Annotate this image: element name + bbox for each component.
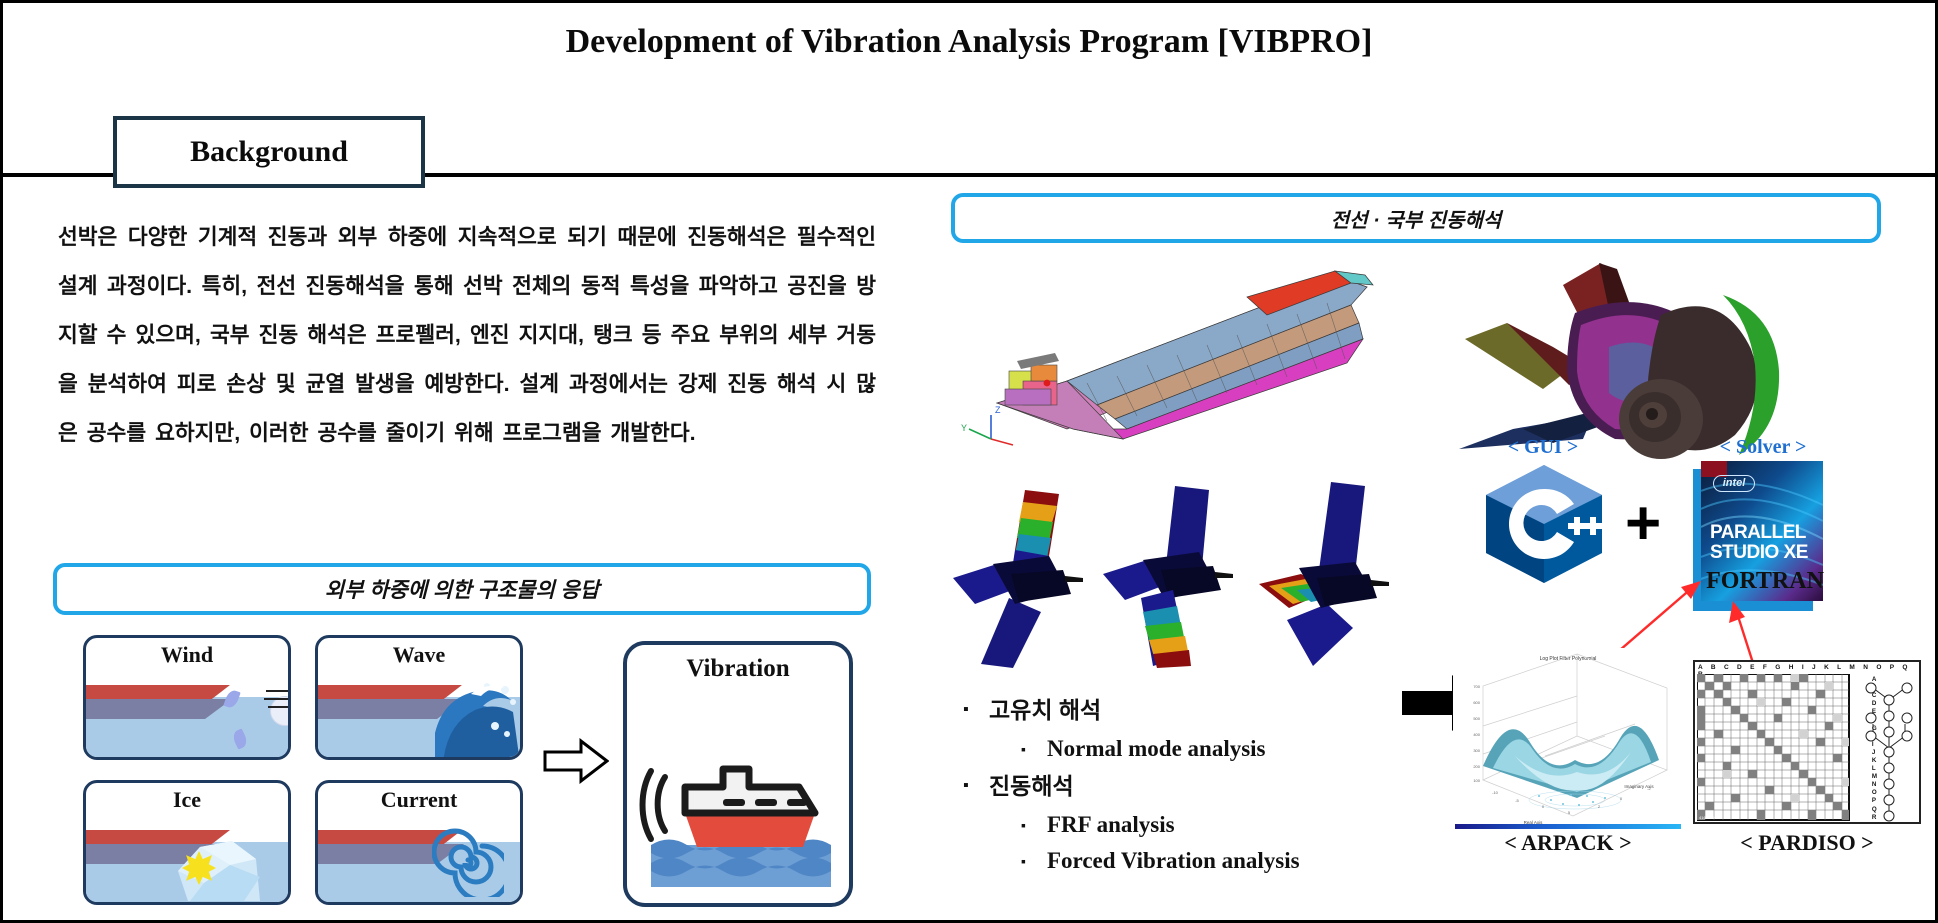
arpack-caption: < ARPACK > <box>1453 830 1683 856</box>
svg-text:200: 200 <box>1473 764 1480 769</box>
svg-text:700: 700 <box>1473 684 1480 689</box>
section-tag-background: Background <box>113 116 425 188</box>
hollow-right-arrow-icon <box>543 738 609 784</box>
mode-shape-2 <box>1103 478 1253 668</box>
bullet-level2: ▪ Normal mode analysis <box>1021 733 1433 765</box>
solver-logo-line2: STUDIO XE <box>1710 543 1808 562</box>
svg-text:500: 500 <box>1473 716 1480 721</box>
slide-root: Development of Vibration Analysis Progra… <box>0 0 1938 923</box>
load-card-ice: Ice <box>83 780 291 905</box>
bullet-marker-icon: ▪ <box>1021 809 1047 841</box>
mode-shape-3 <box>1253 478 1403 668</box>
svg-text:400: 400 <box>1473 732 1480 737</box>
full-ship-fem-model: Z Y <box>947 253 1387 453</box>
bullet-label: 고유치 해석 <box>989 693 1101 727</box>
pardiso-elimination-tree <box>1859 674 1917 822</box>
right-column: 전선 · 국부 진동해석 <box>933 193 1937 923</box>
svg-text:Y: Y <box>961 423 967 433</box>
bullet-label: Forced Vibration analysis <box>1047 845 1300 877</box>
page-title: Development of Vibration Analysis Progra… <box>3 23 1935 61</box>
load-card-current: Current <box>315 780 523 905</box>
bullet-level2: ▪ FRF analysis <box>1021 809 1433 841</box>
pardiso-matrix-diagram: A B C D E F G H I J K L M N O P Q R <box>1693 660 1921 824</box>
bullet-label: FRF analysis <box>1047 809 1175 841</box>
arpack-surface-plot: Log Plot Filter Polynomial <box>1453 648 1683 828</box>
vibration-result-card: Vibration <box>623 641 853 907</box>
background-paragraph: 선박은 다양한 기계적 진동과 외부 하중에 지속적으로 되기 때문에 진동해석… <box>58 213 876 458</box>
arpack-underline <box>1455 824 1681 829</box>
impact-spark-icon <box>182 851 216 885</box>
bullet-label: Normal mode analysis <box>1047 733 1266 765</box>
water-swirl-icon <box>432 827 504 897</box>
load-card-grid: Wind Wave <box>83 635 523 905</box>
svg-text:Z: Z <box>995 405 1001 415</box>
mode-shape-1 <box>953 478 1103 668</box>
svg-text:600: 600 <box>1473 700 1480 705</box>
svg-text:100: 100 <box>1473 778 1480 783</box>
load-card-wind-label: Wind <box>86 642 288 668</box>
plus-icon: + <box>1625 493 1661 555</box>
external-load-banner-label: 외부 하중에 의한 구조물의 응답 <box>325 574 600 604</box>
bullet-level2: ▪ Forced Vibration analysis <box>1021 845 1433 877</box>
gui-caption: < GUI > <box>1463 436 1623 459</box>
svg-text:-10: -10 <box>1492 790 1499 795</box>
pardiso-caption: < PARDISO > <box>1693 830 1921 856</box>
vibration-result-label: Vibration <box>627 655 849 683</box>
svg-text:300: 300 <box>1473 748 1480 753</box>
global-local-analysis-banner: 전선 · 국부 진동해석 <box>951 193 1881 243</box>
bullet-marker-icon: ▪ <box>1021 733 1047 765</box>
pardiso-figure: A B C D E F G H I J K L M N O P Q R <box>1693 648 1921 858</box>
global-local-analysis-banner-label: 전선 · 국부 진동해석 <box>1331 204 1502 233</box>
load-card-current-label: Current <box>318 787 520 813</box>
load-card-wave: Wave <box>315 635 523 760</box>
bullet-marker-icon: ▪ <box>963 693 989 727</box>
solver-caption: < Solver > <box>1673 436 1853 459</box>
load-card-wave-label: Wave <box>318 642 520 668</box>
load-card-ice-label: Ice <box>86 787 288 813</box>
arpack-figure: Log Plot Filter Polynomial <box>1453 648 1683 858</box>
bullet-level1: ▪ 진동해석 <box>963 769 1433 803</box>
svg-text:416 x 306: 416 x 306 <box>1699 815 1717 820</box>
background-paragraph-text: 선박은 다양한 기계적 진동과 외부 하중에 지속적으로 되기 때문에 진동해석… <box>58 213 876 458</box>
bullet-level1: ▪ 고유치 해석 <box>963 693 1433 727</box>
load-card-wind: Wind <box>83 635 291 760</box>
arpack-ylabel: Imaginary Axis <box>1624 784 1654 789</box>
section-tag-label: Background <box>190 135 348 169</box>
hull-red-band <box>83 685 230 701</box>
ocean-wave-icon <box>425 678 520 760</box>
sea-surface <box>86 714 288 760</box>
cpp-logo-icon <box>1478 461 1610 587</box>
intel-badge: intel <box>1713 475 1755 492</box>
bullet-label: 진동해석 <box>989 769 1074 803</box>
external-load-banner: 외부 하중에 의한 구조물의 응답 <box>53 563 871 615</box>
solver-logo-line1: PARALLEL <box>1710 523 1806 542</box>
vibrating-ship-icon <box>627 695 853 895</box>
bullet-marker-icon: ▪ <box>963 769 989 803</box>
analysis-bullet-list: ▪ 고유치 해석 ▪ Normal mode analysis ▪ 진동해석 ▪… <box>963 693 1433 881</box>
bullet-marker-icon: ▪ <box>1021 845 1047 877</box>
left-column: 선박은 다양한 기계적 진동과 외부 하중에 지속적으로 되기 때문에 진동해석… <box>3 193 933 923</box>
